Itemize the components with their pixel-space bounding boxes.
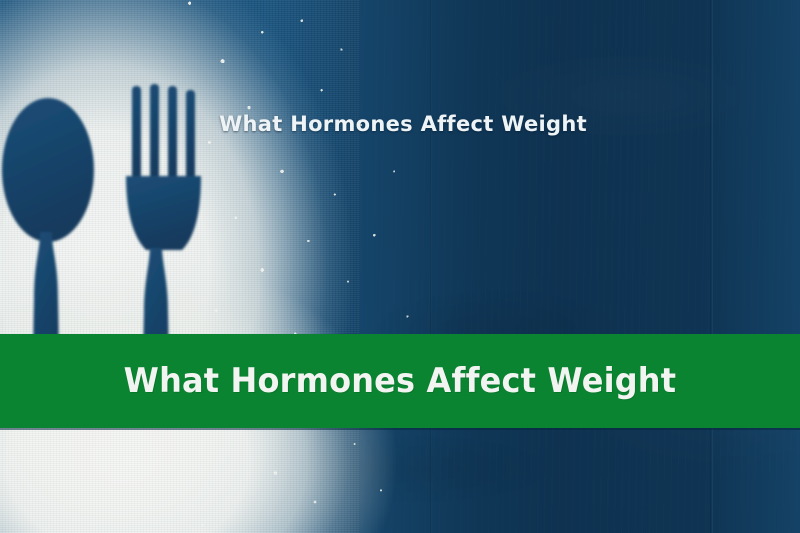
hero-overlay-title: What Hormones Affect Weight: [0, 112, 800, 136]
banner-title-text: What Hormones Affect Weight: [124, 361, 677, 401]
green-title-banner: What Hormones Affect Weight: [0, 334, 800, 428]
background-photo: [0, 0, 800, 533]
banner-bottom-edge: [0, 428, 800, 430]
featured-image-canvas: What Hormones Affect Weight What Hormone…: [0, 0, 800, 533]
cutlery-silhouettes: [0, 0, 300, 533]
